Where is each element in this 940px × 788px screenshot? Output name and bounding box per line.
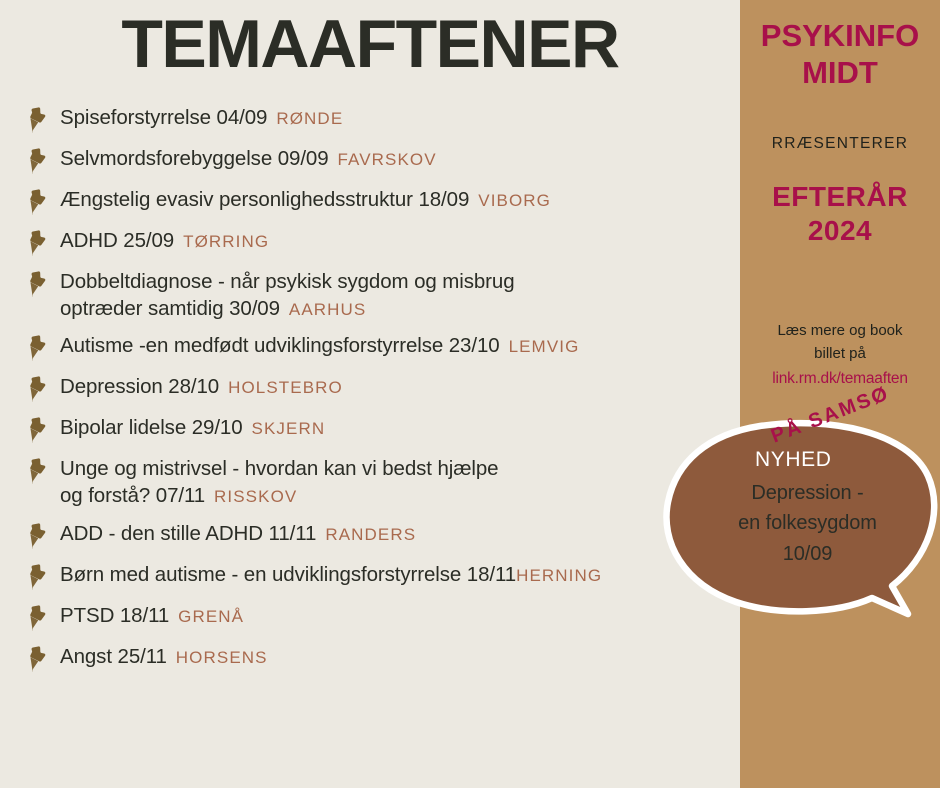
- event-pin: [26, 603, 60, 631]
- event-city: RISSKOV: [214, 487, 297, 506]
- event-pin: [26, 374, 60, 402]
- event-city: GRENÅ: [178, 607, 244, 626]
- event-list-item[interactable]: ADD - den stille ADHD 11/11RANDERS: [0, 521, 740, 551]
- pushpin-icon: [26, 335, 50, 361]
- pushpin-icon: [26, 458, 50, 484]
- event-pin: [26, 521, 60, 549]
- event-title: Spiseforstyrrelse 04/09: [60, 106, 267, 129]
- main-content-column: TEMAAFTENER Spiseforstyrrelse 04/09RØNDE…: [0, 0, 740, 788]
- event-list-item[interactable]: Depression 28/10HOLSTEBRO: [0, 374, 740, 404]
- event-list-item[interactable]: Autisme -en medfødt udviklingsforstyrrel…: [0, 333, 740, 363]
- event-city: AARHUS: [289, 300, 366, 319]
- poster-canvas: TEMAAFTENER Spiseforstyrrelse 04/09RØNDE…: [0, 0, 940, 788]
- event-pin: [26, 456, 60, 484]
- event-text: Selvmordsforebyggelse 09/09FAVRSKOV: [60, 146, 740, 173]
- booking-info: Læs mere og book billet på link.rm.dk/te…: [746, 320, 934, 390]
- event-city: LEMVIG: [509, 337, 580, 356]
- event-list-item[interactable]: Bipolar lidelse 29/10SKJERN: [0, 415, 740, 445]
- event-list-item[interactable]: ADHD 25/09TØRRING: [0, 228, 740, 258]
- season-block: EFTERÅR 2024: [740, 180, 940, 247]
- event-title: Angst 25/11: [60, 645, 167, 668]
- event-title: PTSD 18/11: [60, 604, 169, 627]
- event-list-item[interactable]: PTSD 18/11GRENÅ: [0, 603, 740, 633]
- event-list-item[interactable]: Unge og mistrivsel - hvordan kan vi beds…: [0, 456, 740, 509]
- event-pin: [26, 187, 60, 215]
- event-pin: [26, 105, 60, 133]
- event-text: Angst 25/11HORSENS: [60, 644, 740, 671]
- season-label: EFTERÅR: [740, 180, 940, 214]
- event-text: Spiseforstyrrelse 04/09RØNDE: [60, 105, 740, 132]
- pushpin-icon: [26, 523, 50, 549]
- event-city: TØRRING: [183, 232, 269, 251]
- event-title: ADHD 25/09: [60, 229, 174, 252]
- event-text: Autisme -en medfødt udviklingsforstyrrel…: [60, 333, 740, 360]
- brand-name-line2: MIDT: [740, 55, 940, 92]
- event-city: HOLSTEBRO: [228, 378, 343, 397]
- event-pin: [26, 228, 60, 256]
- booking-line-2: billet på: [814, 345, 866, 362]
- event-city: VIBORG: [478, 191, 551, 210]
- pushpin-icon: [26, 189, 50, 215]
- pushpin-icon: [26, 376, 50, 402]
- event-city: RØNDE: [276, 109, 343, 128]
- event-city: HERNING: [516, 566, 602, 585]
- event-pin: [26, 644, 60, 672]
- event-list-item[interactable]: Ængstelig evasiv personlighedsstruktur 1…: [0, 187, 740, 217]
- event-title: Dobbeltdiagnose - når psykisk sygdom og …: [60, 270, 515, 293]
- event-title-line2-text: optræder samtidig 30/09: [60, 297, 280, 320]
- pushpin-icon: [26, 646, 50, 672]
- event-title: Autisme -en medfødt udviklingsforstyrrel…: [60, 334, 500, 357]
- event-city: SKJERN: [252, 419, 326, 438]
- event-list-item[interactable]: Børn med autisme - en udviklingsforstyrr…: [0, 562, 740, 592]
- event-title: Selvmordsforebyggelse 09/09: [60, 147, 329, 170]
- event-title: Ængstelig evasiv personlighedsstruktur 1…: [60, 188, 469, 211]
- event-title: Unge og mistrivsel - hvordan kan vi beds…: [60, 457, 498, 480]
- event-list-item[interactable]: Spiseforstyrrelse 04/09RØNDE: [0, 105, 740, 135]
- event-title-line2: og forstå? 07/11RISSKOV: [60, 483, 740, 510]
- event-pin: [26, 146, 60, 174]
- season-year: 2024: [740, 214, 940, 248]
- event-text: Unge og mistrivsel - hvordan kan vi beds…: [60, 456, 740, 509]
- event-title: ADD - den stille ADHD 11/11: [60, 522, 316, 545]
- event-city: RANDERS: [325, 525, 416, 544]
- pushpin-icon: [26, 230, 50, 256]
- event-title-line2-text: og forstå? 07/11: [60, 484, 205, 507]
- event-text: Børn med autisme - en udviklingsforstyrr…: [60, 562, 740, 589]
- event-list-item[interactable]: Dobbeltdiagnose - når psykisk sygdom og …: [0, 269, 740, 322]
- brand-name-line1: PSYKINFO: [740, 18, 940, 55]
- event-city: HORSENS: [176, 648, 268, 667]
- event-text: Depression 28/10HOLSTEBRO: [60, 374, 740, 401]
- event-list-item[interactable]: Selvmordsforebyggelse 09/09FAVRSKOV: [0, 146, 740, 176]
- sidebar-panel: PSYKINFO MIDT RRÆSENTERER EFTERÅR 2024 L…: [740, 0, 940, 788]
- event-text: ADHD 25/09TØRRING: [60, 228, 740, 255]
- event-text: PTSD 18/11GRENÅ: [60, 603, 740, 630]
- event-text: Dobbeltdiagnose - når psykisk sygdom og …: [60, 269, 740, 322]
- booking-url-link[interactable]: link.rm.dk/temaaften: [746, 367, 934, 391]
- pushpin-icon: [26, 148, 50, 174]
- event-pin: [26, 562, 60, 590]
- page-title: TEMAAFTENER: [0, 8, 740, 81]
- pushpin-icon: [26, 417, 50, 443]
- event-pin: [26, 333, 60, 361]
- pushpin-icon: [26, 564, 50, 590]
- event-title: Børn med autisme - en udviklingsforstyrr…: [60, 563, 516, 586]
- pushpin-icon: [26, 605, 50, 631]
- booking-line-1: Læs mere og book: [777, 322, 902, 339]
- presents-label: RRÆSENTERER: [740, 135, 940, 153]
- event-text: Ængstelig evasiv personlighedsstruktur 1…: [60, 187, 740, 214]
- pushpin-icon: [26, 271, 50, 297]
- event-text: Bipolar lidelse 29/10SKJERN: [60, 415, 740, 442]
- brand-block: PSYKINFO MIDT: [740, 18, 940, 91]
- event-title: Bipolar lidelse 29/10: [60, 416, 243, 439]
- event-title-line2: optræder samtidig 30/09AARHUS: [60, 296, 740, 323]
- event-pin: [26, 269, 60, 297]
- event-list: Spiseforstyrrelse 04/09RØNDE Selvmordsfo…: [0, 105, 740, 685]
- event-title: Depression 28/10: [60, 375, 219, 398]
- event-pin: [26, 415, 60, 443]
- event-text: ADD - den stille ADHD 11/11RANDERS: [60, 521, 740, 548]
- event-list-item[interactable]: Angst 25/11HORSENS: [0, 644, 740, 674]
- event-city: FAVRSKOV: [338, 150, 437, 169]
- pushpin-icon: [26, 107, 50, 133]
